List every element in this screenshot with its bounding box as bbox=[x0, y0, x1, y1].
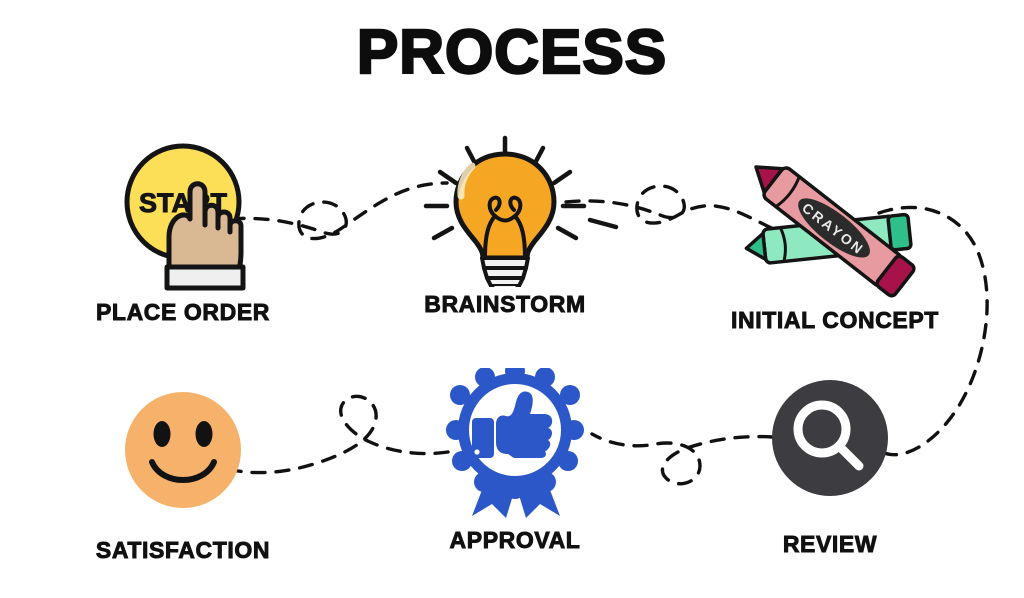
step-brainstorm[interactable]: BRAINSTORM bbox=[390, 132, 620, 318]
crayons-icon: CRAYON bbox=[720, 148, 950, 303]
start-button-hand-icon: START bbox=[68, 140, 298, 295]
step-initial-concept[interactable]: CRAYON INITIAL CONCEPT bbox=[720, 148, 950, 334]
award-ribbon-thumbs-up-icon bbox=[400, 368, 630, 523]
magnifier-circle-icon bbox=[715, 372, 945, 527]
process-diagram-canvas: PROCESS START PLACE ORDER bbox=[0, 0, 1024, 598]
page-title: PROCESS bbox=[0, 22, 1024, 84]
step-label-place-order: PLACE ORDER bbox=[68, 299, 298, 326]
step-review[interactable]: REVIEW bbox=[715, 372, 945, 558]
step-label-initial-concept: INITIAL CONCEPT bbox=[720, 307, 950, 334]
step-approval[interactable]: APPROVAL bbox=[400, 368, 630, 554]
smiley-face-icon bbox=[68, 378, 298, 533]
step-satisfaction[interactable]: SATISFACTION bbox=[68, 378, 298, 564]
step-label-approval: APPROVAL bbox=[400, 527, 630, 554]
lightbulb-icon bbox=[390, 132, 620, 287]
step-label-brainstorm: BRAINSTORM bbox=[390, 291, 620, 318]
step-label-review: REVIEW bbox=[715, 531, 945, 558]
step-place-order[interactable]: START PLACE ORDER bbox=[68, 140, 298, 326]
step-label-satisfaction: SATISFACTION bbox=[68, 537, 298, 564]
